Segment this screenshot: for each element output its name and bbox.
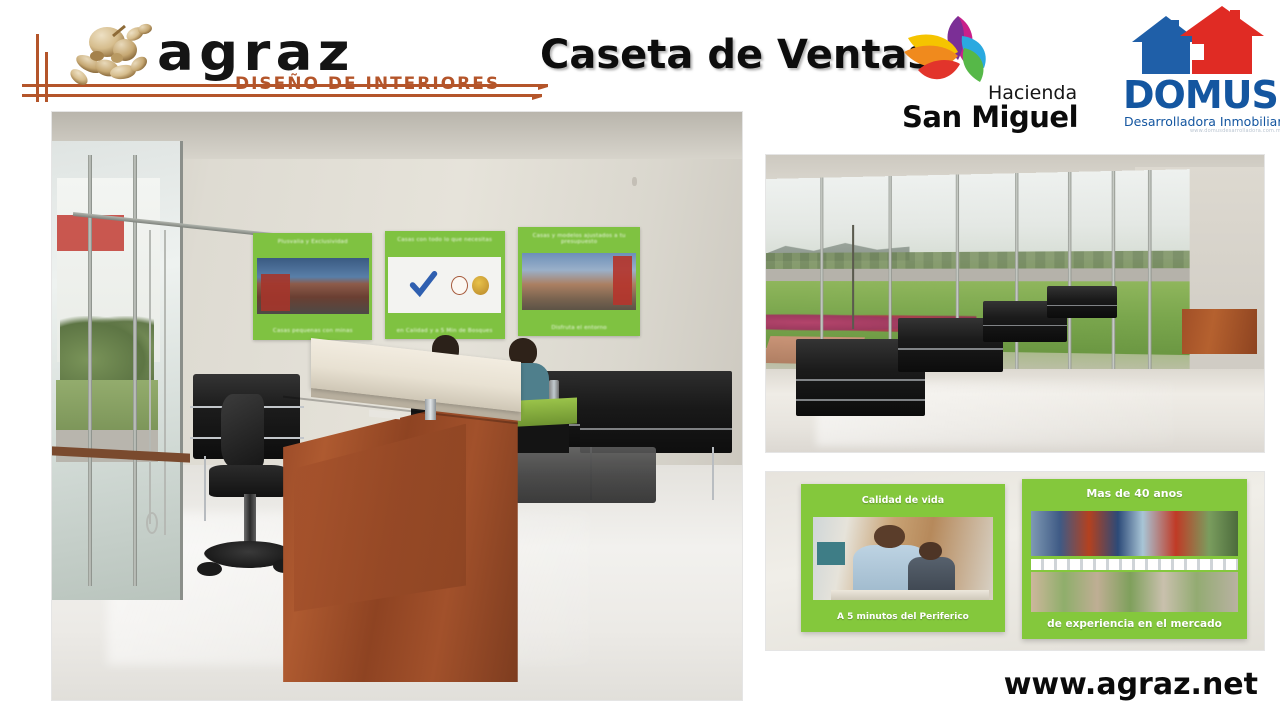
- slide-stage: agraz DISEÑO DE INTERIORES Caseta de Ven…: [0, 0, 1280, 720]
- project-photo-strip-top: [1031, 511, 1237, 556]
- hacienda-san-miguel-logo[interactable]: Hacienda San Miguel: [900, 12, 1100, 130]
- wall-poster-bottom-text: en Calidad y a 5 Min de Bosques: [385, 328, 505, 334]
- marketing-poster-title: Calidad de vida: [801, 495, 1005, 506]
- wall-poster-bottom-text: Casas pequenas con minas: [253, 328, 372, 334]
- sofa-chrome-band: [796, 379, 925, 381]
- domus-wordmark: DOMUS: [1123, 76, 1278, 114]
- office-chair-backrest: [221, 394, 264, 468]
- office-chair-caster: [197, 562, 222, 576]
- agraz-wordmark: agraz DISEÑO DE INTERIORES: [157, 26, 427, 96]
- door-frame-mullion-1: [88, 155, 92, 586]
- sofa-chrome-band: [898, 348, 1003, 350]
- blind-cord-2: [164, 230, 166, 536]
- footer-website-url[interactable]: www.agraz.net: [1004, 667, 1258, 702]
- wall-poster-top-text: Plusvalia y Exclusividad: [253, 239, 372, 245]
- certification-seal-1: [451, 276, 468, 295]
- reception-desk-chrome-support: [425, 399, 436, 420]
- lounge-sofa: [1047, 286, 1117, 319]
- agraz-wordmark-text: agraz: [157, 26, 355, 80]
- office-chair-post: [244, 494, 256, 547]
- wall-poster-top-text: Casas con todo lo que necesitas: [385, 237, 505, 243]
- exterior-road: [766, 268, 1190, 281]
- photo-main-reception: Plusvalia y Exclusividad Casas pequenas …: [52, 112, 742, 700]
- exterior-sapling: [853, 225, 855, 329]
- accent-vertical-line-1: [36, 34, 39, 102]
- kitchen-table: [831, 590, 989, 600]
- photo-lounge-window: [766, 155, 1264, 452]
- page-title: Caseta de Ventas: [540, 32, 931, 78]
- blind-cord-1: [149, 230, 151, 524]
- marketing-poster-photo: [813, 517, 993, 600]
- kitchen-accent: [817, 542, 846, 565]
- child-head: [919, 542, 942, 560]
- wall-poster-image: [522, 253, 636, 310]
- domus-micro-url: www.domusdesarrolladora.com.mx: [1190, 128, 1280, 134]
- project-photo-strip-bottom: [1031, 572, 1237, 612]
- marketing-poster: Calidad de vida A 5 minutos del Periferi…: [801, 484, 1005, 632]
- client-logo-strip: [1031, 559, 1237, 570]
- wall-poster-image: [388, 257, 501, 313]
- photo-marketing-posters: Calidad de vida A 5 minutos del Periferi…: [766, 472, 1264, 650]
- window-mullion: [1015, 173, 1018, 381]
- exterior-trees: [60, 316, 155, 389]
- agraz-tagline: DISEÑO DE INTERIORES: [235, 74, 500, 94]
- wall-poster: Casas con todo lo que necesitas en Calid…: [385, 231, 505, 339]
- certification-seal-2: [472, 276, 489, 295]
- hsm-line2: San Miguel: [902, 100, 1078, 134]
- exterior-grass: [56, 380, 158, 435]
- wall-poster-image: [257, 258, 369, 314]
- wall-sensor: [632, 177, 637, 186]
- marketing-poster-footer: A 5 minutos del Periferico: [801, 612, 1005, 622]
- wood-cabinet: [1182, 309, 1257, 354]
- father-head: [874, 525, 905, 548]
- wall-poster: Plusvalia y Exclusividad Casas pequenas …: [253, 233, 372, 340]
- blind-cord-loop: [146, 512, 158, 534]
- window-mullion: [1067, 172, 1070, 382]
- presentation-slide: agraz DISEÑO DE INTERIORES Caseta de Ven…: [0, 0, 1280, 720]
- domus-logo[interactable]: DOMUS Desarrolladora Inmobiliaria www.do…: [1122, 4, 1274, 136]
- marketing-poster-footer: de experiencia en el mercado: [1022, 618, 1246, 630]
- wall-poster-top-text: Casas y modelos ajustados a tu presupues…: [518, 233, 639, 245]
- domus-houses-icon: [1122, 4, 1274, 78]
- checkmark-icon: [404, 271, 442, 299]
- sofa-chrome-band: [983, 325, 1068, 327]
- window-mullion: [1149, 170, 1153, 384]
- exterior-treeline: [766, 251, 1190, 269]
- marketing-poster-title: Mas de 40 anos: [1022, 487, 1246, 500]
- wall-poster-bottom-text: Disfruta el entorno: [518, 325, 639, 331]
- agraz-logo[interactable]: agraz DISEÑO DE INTERIORES: [12, 8, 432, 106]
- window-mullion: [1112, 171, 1115, 383]
- sofa-chrome-band: [796, 399, 925, 401]
- office-chair-seat: [209, 465, 288, 497]
- sofa-chrome-band: [1047, 305, 1117, 307]
- marketing-poster: Mas de 40 anos de experiencia en el merc…: [1022, 479, 1246, 639]
- waiting-sofa: [580, 371, 732, 453]
- wall-poster: Casas y modelos ajustados a tu presupues…: [518, 227, 639, 336]
- domus-tagline: Desarrolladora Inmobiliaria: [1124, 114, 1280, 129]
